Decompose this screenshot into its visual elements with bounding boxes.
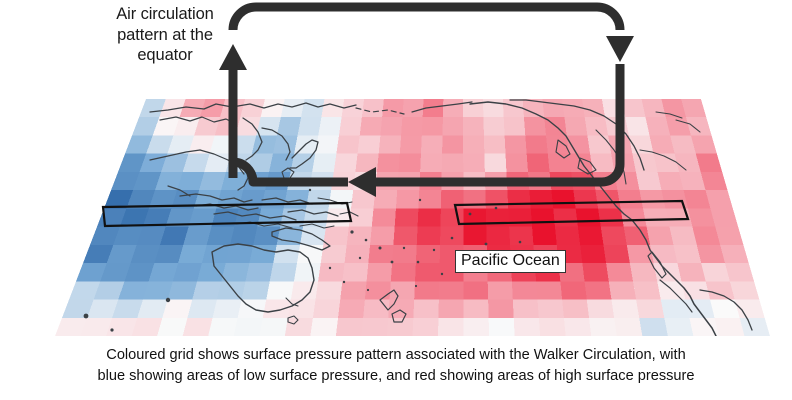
heat-cell bbox=[246, 263, 274, 281]
figure-root: Pacific Ocean Air circulation pattern at… bbox=[0, 0, 792, 400]
heat-cell bbox=[524, 117, 546, 135]
heat-cell bbox=[353, 172, 377, 190]
heat-cell bbox=[647, 227, 674, 245]
heat-cell bbox=[590, 154, 614, 172]
heat-cell bbox=[414, 281, 439, 299]
heat-cell bbox=[622, 99, 646, 117]
heat-cell bbox=[463, 117, 484, 135]
heat-cell bbox=[273, 245, 300, 263]
heat-cell bbox=[550, 172, 574, 190]
heat-cell bbox=[701, 263, 730, 281]
heat-cell bbox=[420, 154, 442, 172]
heat-cell bbox=[208, 318, 237, 336]
heat-cell bbox=[560, 281, 586, 299]
heat-cell bbox=[358, 135, 381, 153]
heat-cell bbox=[488, 281, 513, 299]
heat-cell bbox=[669, 227, 696, 245]
heat-cell bbox=[441, 172, 463, 190]
heat-cell bbox=[514, 318, 540, 336]
heat-cell bbox=[438, 318, 464, 336]
heat-cell bbox=[564, 117, 587, 135]
heat-cell bbox=[321, 245, 347, 263]
heat-cell bbox=[362, 99, 384, 117]
heat-cell bbox=[443, 99, 463, 117]
heat-cell bbox=[602, 99, 625, 117]
heat-cell bbox=[336, 318, 363, 336]
heat-cell bbox=[197, 263, 226, 281]
circ-label-line-3: equator bbox=[86, 45, 244, 66]
heat-cell bbox=[553, 208, 578, 226]
heat-cell bbox=[336, 135, 359, 153]
heat-cell bbox=[673, 245, 701, 263]
heat-cell bbox=[234, 318, 263, 336]
heat-cell bbox=[484, 135, 506, 153]
heat-cell bbox=[338, 300, 365, 318]
heat-cell bbox=[505, 135, 527, 153]
heat-cell bbox=[657, 281, 685, 299]
air-circulation-pattern-label: Air circulation pattern at the equator bbox=[86, 4, 244, 66]
heat-cell bbox=[397, 172, 420, 190]
heat-cell bbox=[310, 318, 338, 336]
heat-cell bbox=[326, 208, 351, 226]
heat-cell bbox=[539, 318, 566, 336]
heat-cell bbox=[513, 300, 539, 318]
heat-cell bbox=[309, 172, 334, 190]
heat-cell bbox=[609, 281, 636, 299]
heat-cell bbox=[585, 117, 608, 135]
heat-cell bbox=[315, 135, 339, 153]
heat-cell bbox=[464, 318, 490, 336]
heat-cell bbox=[639, 190, 665, 208]
heat-cell bbox=[639, 318, 668, 336]
heat-cell bbox=[270, 263, 297, 281]
heat-cell bbox=[418, 208, 441, 226]
heat-cell bbox=[636, 300, 664, 318]
heat-cell bbox=[573, 190, 598, 208]
heat-cell bbox=[567, 135, 590, 153]
heat-cell bbox=[345, 245, 371, 263]
heat-cell bbox=[391, 263, 416, 281]
heat-cell bbox=[603, 245, 629, 263]
heat-cell bbox=[555, 227, 580, 245]
heat-cell bbox=[715, 318, 745, 336]
heat-cell bbox=[347, 227, 372, 245]
heat-cell bbox=[298, 117, 322, 135]
heat-cell bbox=[372, 208, 396, 226]
heat-cell bbox=[485, 172, 508, 190]
heat-cell bbox=[259, 318, 288, 336]
heat-cell bbox=[297, 245, 323, 263]
heat-cell bbox=[273, 135, 298, 153]
heat-cell bbox=[287, 172, 312, 190]
heat-cell bbox=[536, 281, 562, 299]
heat-cell bbox=[582, 263, 608, 281]
heat-cell bbox=[614, 172, 639, 190]
heat-cell bbox=[395, 208, 419, 226]
circ-label-line-1: Air circulation bbox=[86, 4, 244, 25]
heat-cell bbox=[417, 227, 441, 245]
heat-cell bbox=[697, 245, 725, 263]
heat-cell bbox=[312, 154, 336, 172]
heat-cell bbox=[202, 245, 230, 263]
heat-cell bbox=[187, 300, 216, 318]
heat-cell bbox=[265, 172, 291, 190]
heat-cell bbox=[226, 245, 254, 263]
heat-cell bbox=[284, 190, 310, 208]
heat-cell bbox=[421, 135, 443, 153]
caption-line-1: Coloured grid shows surface pressure pat… bbox=[0, 345, 792, 366]
heat-cell bbox=[285, 318, 313, 336]
heat-cell bbox=[486, 227, 510, 245]
heat-cell bbox=[360, 117, 382, 135]
heat-cell bbox=[650, 135, 675, 153]
heat-cell bbox=[162, 300, 192, 318]
figure-caption: Coloured grid shows surface pressure pat… bbox=[0, 345, 792, 387]
heat-cell bbox=[370, 227, 395, 245]
heat-cell bbox=[463, 135, 484, 153]
heat-cell bbox=[587, 135, 611, 153]
heat-cell bbox=[589, 318, 617, 336]
heat-cell bbox=[402, 99, 423, 117]
heat-cell bbox=[740, 318, 770, 336]
heat-cell bbox=[374, 190, 398, 208]
heat-cell bbox=[387, 318, 413, 336]
heat-cell bbox=[349, 208, 374, 226]
heat-cell bbox=[340, 281, 366, 299]
heat-cell bbox=[464, 300, 489, 318]
heat-cell bbox=[416, 245, 440, 263]
heat-cell bbox=[489, 318, 515, 336]
heat-cell bbox=[657, 172, 683, 190]
heat-cell bbox=[585, 281, 612, 299]
heat-cell bbox=[377, 154, 400, 172]
heat-cell bbox=[654, 154, 680, 172]
heat-cell bbox=[342, 263, 368, 281]
heat-cell bbox=[266, 281, 294, 299]
heat-cell bbox=[664, 318, 693, 336]
heat-cell bbox=[413, 318, 439, 336]
heat-cell bbox=[401, 117, 423, 135]
heat-cell bbox=[595, 190, 620, 208]
heat-cell bbox=[393, 227, 417, 245]
heat-cell bbox=[183, 318, 213, 336]
heat-cell bbox=[294, 263, 321, 281]
heat-cell bbox=[252, 135, 277, 153]
heat-cell bbox=[217, 281, 246, 299]
heat-cell bbox=[263, 300, 291, 318]
heat-cell bbox=[442, 154, 464, 172]
heat-cell bbox=[506, 172, 529, 190]
heat-cell bbox=[301, 99, 324, 117]
heat-cell bbox=[562, 300, 589, 318]
heat-cell bbox=[730, 281, 760, 299]
heat-cell bbox=[442, 135, 463, 153]
pressure-heatmap-grid bbox=[55, 99, 770, 336]
heat-cell bbox=[438, 300, 463, 318]
heat-cell bbox=[633, 281, 661, 299]
heat-cell bbox=[643, 208, 669, 226]
heat-cell bbox=[323, 227, 349, 245]
heat-cell bbox=[611, 300, 639, 318]
heat-cell bbox=[363, 300, 389, 318]
heat-cell bbox=[617, 190, 643, 208]
heat-cell bbox=[720, 245, 749, 263]
heat-cell bbox=[329, 190, 354, 208]
heat-cell bbox=[321, 99, 344, 117]
heat-cell bbox=[415, 263, 440, 281]
heat-cell bbox=[483, 117, 504, 135]
heat-cell bbox=[316, 281, 343, 299]
heat-cell bbox=[488, 300, 514, 318]
pacific-ocean-label: Pacific Ocean bbox=[455, 250, 566, 273]
heat-cell bbox=[288, 300, 316, 318]
heat-cell bbox=[706, 281, 735, 299]
heat-cell bbox=[621, 208, 647, 226]
heat-cell bbox=[587, 300, 614, 318]
heat-cell bbox=[367, 263, 393, 281]
heat-cell bbox=[300, 227, 326, 245]
heat-cell bbox=[632, 154, 657, 172]
heat-cell bbox=[507, 190, 530, 208]
heat-cell bbox=[439, 281, 464, 299]
heat-cell bbox=[677, 263, 705, 281]
heat-cell bbox=[443, 117, 464, 135]
heat-cell bbox=[361, 318, 388, 336]
heat-cell bbox=[576, 208, 601, 226]
heat-cell bbox=[564, 318, 591, 336]
heat-cell bbox=[419, 172, 441, 190]
heat-cell bbox=[725, 263, 754, 281]
heat-cell bbox=[485, 190, 508, 208]
heat-cell bbox=[351, 190, 375, 208]
heat-cell bbox=[710, 208, 738, 226]
heat-cell bbox=[318, 117, 341, 135]
heat-cell bbox=[281, 99, 305, 117]
heat-cell bbox=[318, 263, 344, 281]
heat-cell bbox=[463, 154, 485, 172]
heat-cell bbox=[625, 117, 649, 135]
heat-cell bbox=[578, 227, 604, 245]
heat-cell bbox=[598, 208, 624, 226]
heat-cell bbox=[399, 154, 421, 172]
heat-cell bbox=[375, 172, 398, 190]
heat-cell bbox=[484, 154, 506, 172]
heat-cell bbox=[580, 245, 606, 263]
heat-cell bbox=[440, 227, 463, 245]
heat-cell bbox=[382, 99, 404, 117]
heat-cell bbox=[313, 300, 340, 318]
heat-cell bbox=[334, 154, 358, 172]
heat-cell bbox=[531, 208, 555, 226]
heat-cell bbox=[157, 318, 187, 336]
heat-cell bbox=[339, 117, 362, 135]
heat-cell bbox=[379, 135, 401, 153]
heat-cell bbox=[463, 281, 488, 299]
heat-cell bbox=[692, 227, 720, 245]
heat-cell bbox=[221, 263, 249, 281]
heat-cell bbox=[614, 318, 642, 336]
heat-cell bbox=[506, 154, 528, 172]
heat-cell bbox=[512, 281, 538, 299]
heat-cell bbox=[636, 172, 662, 190]
heat-cell bbox=[355, 154, 378, 172]
heat-cell bbox=[542, 99, 564, 117]
heat-cell bbox=[551, 190, 575, 208]
heat-cell bbox=[735, 300, 765, 318]
heat-cell bbox=[277, 117, 301, 135]
heat-cell bbox=[213, 300, 242, 318]
heat-cell bbox=[463, 99, 483, 117]
heat-cell bbox=[463, 227, 486, 245]
heat-cell bbox=[532, 227, 557, 245]
heat-cell bbox=[422, 117, 443, 135]
heat-cell bbox=[238, 300, 267, 318]
heat-cell bbox=[606, 263, 633, 281]
heat-cell bbox=[527, 154, 550, 172]
heat-cell bbox=[331, 172, 355, 190]
heat-cell bbox=[400, 135, 422, 153]
heat-cell bbox=[504, 117, 526, 135]
circ-label-line-2: pattern at the bbox=[86, 25, 244, 46]
heat-cell bbox=[253, 227, 280, 245]
heat-cell bbox=[525, 135, 547, 153]
heat-cell bbox=[528, 172, 551, 190]
heat-cell bbox=[380, 117, 402, 135]
heat-cell bbox=[192, 281, 221, 299]
heat-cell bbox=[242, 281, 270, 299]
heat-cell bbox=[249, 245, 276, 263]
heat-cell bbox=[715, 227, 743, 245]
heat-cell bbox=[529, 190, 553, 208]
heat-cell bbox=[548, 154, 571, 172]
heat-cell bbox=[601, 227, 627, 245]
heat-cell bbox=[207, 227, 235, 245]
heat-cell bbox=[537, 300, 563, 318]
heat-cell bbox=[396, 190, 419, 208]
heat-cell bbox=[463, 172, 485, 190]
heat-cell bbox=[230, 227, 257, 245]
heat-cell bbox=[509, 227, 533, 245]
heat-cell bbox=[418, 190, 441, 208]
caption-line-2: blue showing areas of low surface pressu… bbox=[0, 366, 792, 387]
heat-cell bbox=[413, 300, 439, 318]
